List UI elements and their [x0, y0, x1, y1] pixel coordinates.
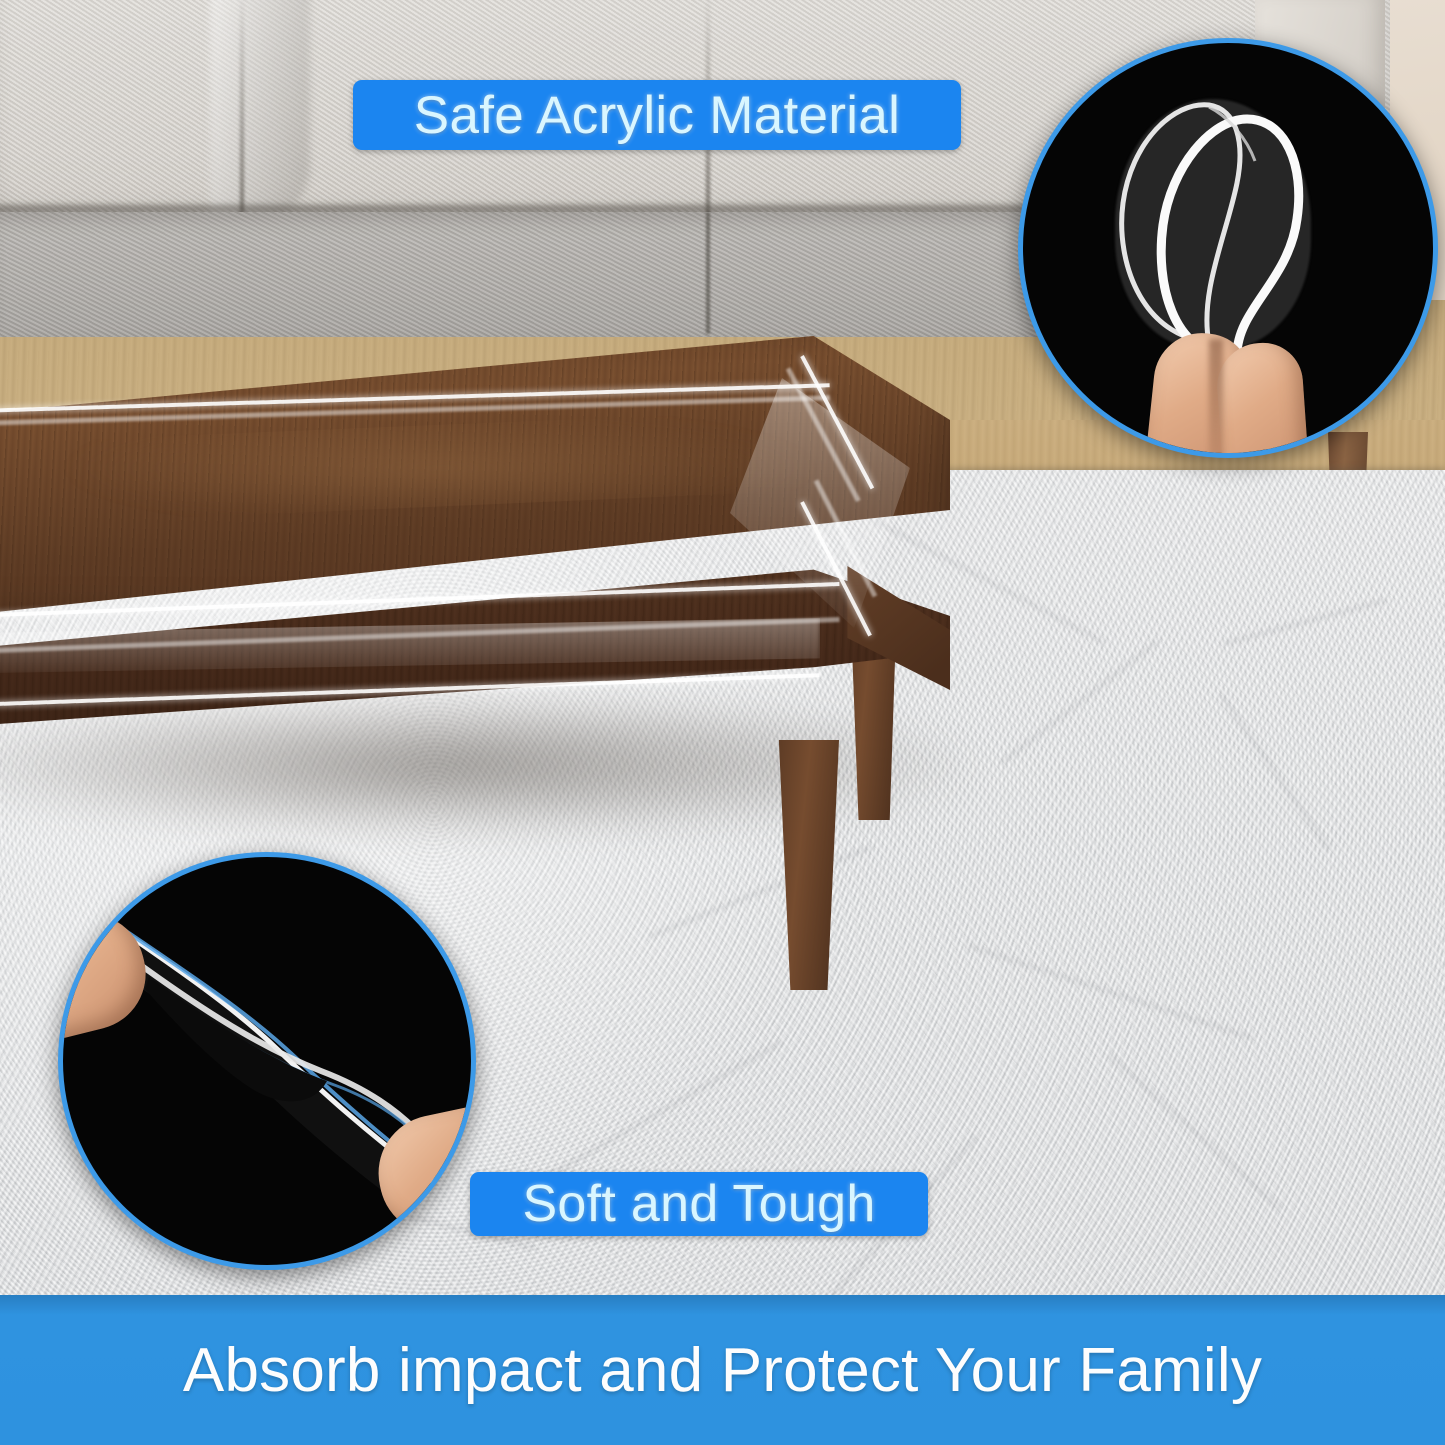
finger-gap-shadow [1209, 339, 1223, 458]
sofa-cushion-fold [210, 0, 310, 225]
banner-top-rule [0, 1295, 1445, 1315]
sofa-skirt-seam [706, 212, 710, 334]
banner-headline: Absorb impact and Protect Your Family [183, 1335, 1262, 1406]
badge-label: Safe Acrylic Material [414, 85, 900, 146]
bottom-banner: Absorb impact and Protect Your Family [0, 1295, 1445, 1445]
inset-top-right [1018, 38, 1438, 458]
sofa-cushion-seam [240, 0, 244, 230]
inset-bottom-left [58, 852, 476, 1270]
product-image-scene: Safe Acrylic Material Soft and Tough Abs… [0, 0, 1445, 1445]
badge-soft-and-tough: Soft and Tough [470, 1172, 928, 1236]
table-body [0, 318, 950, 878]
badge-label: Soft and Tough [522, 1174, 875, 1234]
badge-safe-acrylic-material: Safe Acrylic Material [353, 80, 961, 150]
